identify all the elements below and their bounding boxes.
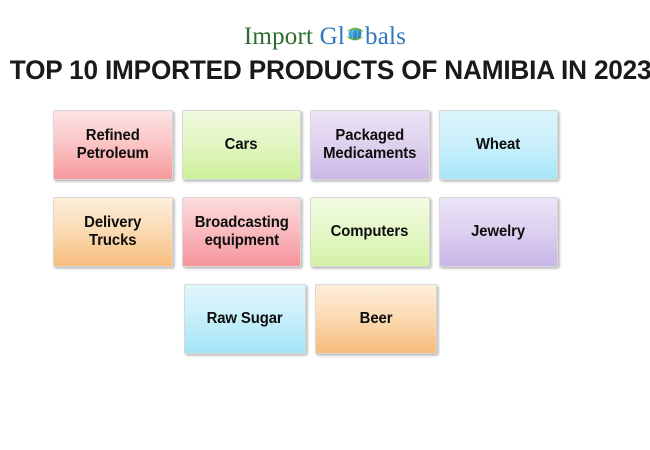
globe-icon — [345, 24, 365, 44]
product-box-refined-petroleum[interactable]: Refined Petroleum — [53, 110, 173, 180]
brand-logo-gl-text: Gl — [320, 23, 345, 50]
product-label: Beer — [360, 310, 393, 328]
product-box-delivery-trucks[interactable]: Delivery Trucks — [53, 197, 173, 267]
product-box-packaged-medicaments[interactable]: Packaged Medicaments — [310, 110, 430, 180]
product-row-3: Raw Sugar Beer — [53, 284, 567, 354]
product-box-computers[interactable]: Computers — [310, 197, 430, 267]
product-box-broadcasting-equipment[interactable]: Broadcasting equipment — [182, 197, 302, 267]
product-label: Computers — [331, 223, 409, 241]
brand-logo-bals-text: bals — [365, 23, 406, 50]
product-box-raw-sugar[interactable]: Raw Sugar — [184, 284, 306, 354]
product-grid: Refined Petroleum Cars Packaged Medicame… — [53, 110, 567, 371]
product-label: Wheat — [476, 136, 520, 154]
brand-logo: Import Gl bals — [0, 22, 650, 52]
product-row-2: Delivery Trucks Broadcasting equipment C… — [53, 197, 567, 267]
product-box-beer[interactable]: Beer — [315, 284, 437, 354]
product-box-jewelry[interactable]: Jewelry — [439, 197, 559, 267]
product-label: Delivery Trucks — [60, 214, 165, 250]
product-label: Broadcasting equipment — [189, 214, 294, 250]
product-box-wheat[interactable]: Wheat — [439, 110, 559, 180]
product-row-1: Refined Petroleum Cars Packaged Medicame… — [53, 110, 567, 180]
page-title: TOP 10 IMPORTED PRODUCTS OF NAMIBIA IN 2… — [10, 55, 641, 86]
product-label: Cars — [225, 136, 258, 154]
product-label: Raw Sugar — [207, 310, 283, 328]
product-box-cars[interactable]: Cars — [182, 110, 302, 180]
product-label: Refined Petroleum — [60, 127, 165, 163]
brand-logo-import-text: Import — [244, 23, 313, 50]
product-label: Packaged Medicaments — [317, 127, 422, 163]
product-label: Jewelry — [471, 223, 525, 241]
